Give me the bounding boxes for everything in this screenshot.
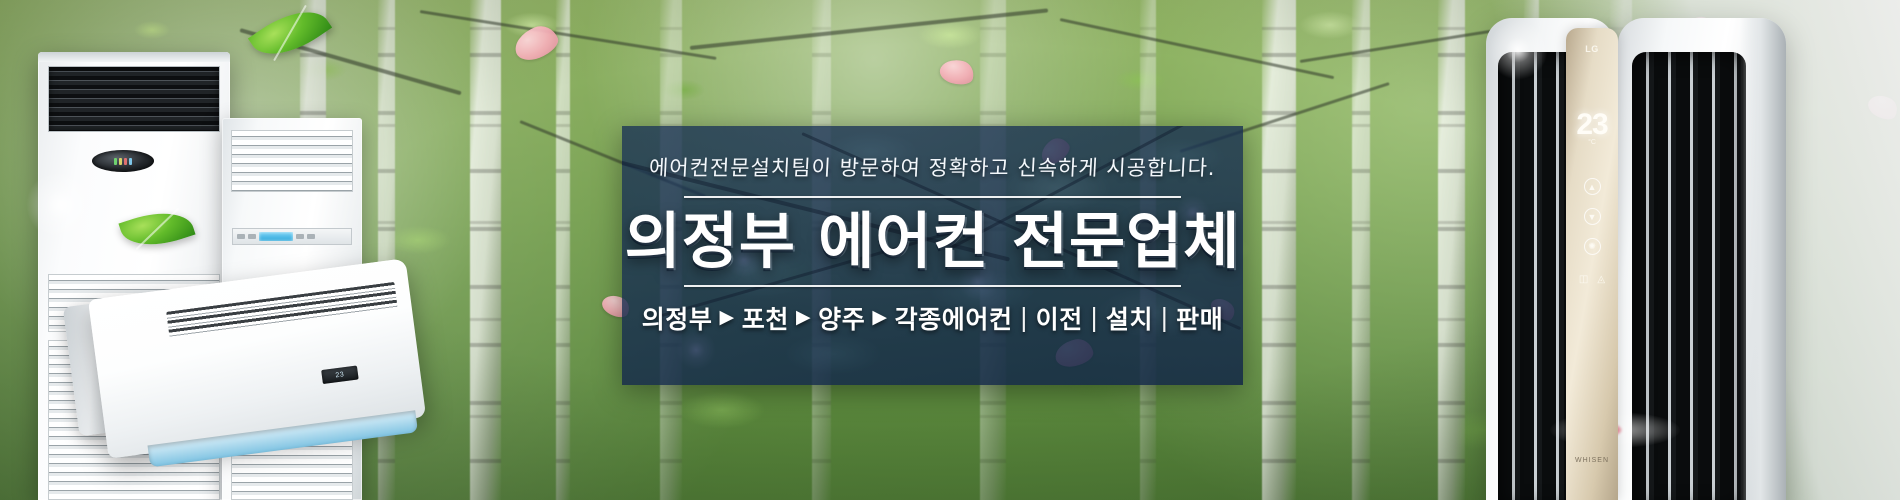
region-label-3: 양주 (818, 300, 865, 336)
whisen-brand-tag: WHISEN (1575, 457, 1609, 464)
decorative-leaf (118, 202, 195, 256)
arrow-right-icon: ▶ (720, 308, 735, 327)
mode-left-icon[interactable]: ◫ (1579, 274, 1588, 285)
tower-control-panel (232, 228, 352, 245)
temperature-display: 23 (1576, 108, 1607, 142)
decorative-leaf (248, 0, 332, 70)
tower-side-shade (1740, 18, 1786, 500)
lg-logo: LG (1585, 44, 1599, 54)
chevron-up-icon[interactable]: ▲ (1584, 178, 1601, 195)
headline-panel: 에어컨전문설치팀이 방문하여 정확하고 신속하게 시공합니다. 의정부 에어컨 … (622, 126, 1243, 385)
service-item-1: 이전 (1036, 300, 1083, 336)
left-product-group: 23 (0, 0, 420, 500)
fan-icon[interactable]: ✺ (1584, 238, 1601, 255)
divider-top (684, 196, 1181, 198)
service-region-line: 의정부 ▶ 포천 ▶ 양주 ▶ 각종에어컨 | 이전 | 설치 | 판매 (642, 300, 1224, 336)
region-label-2: 포천 (742, 300, 789, 336)
tagline-text: 에어컨전문설치팀이 방문하여 정확하고 신속하게 시공합니다. (648, 152, 1216, 182)
display-indicator-pips (114, 158, 132, 165)
arrow-right-icon: ▶ (872, 308, 887, 327)
right-product-group: LG 23 °C ▲ ▼ ✺ ◫ ◬ WHISEN (1480, 0, 1900, 500)
page-title: 의정부 에어컨 전문업체 (625, 210, 1241, 275)
panel-button[interactable] (248, 234, 256, 239)
separator: | (1020, 303, 1029, 332)
region-label-1: 의정부 (642, 300, 713, 336)
control-button-group: ▲ ▼ ✺ ◫ ◬ (1579, 178, 1605, 285)
top-intake-grille (48, 66, 220, 132)
panel-button[interactable] (307, 234, 315, 239)
service-item-2: 설치 (1106, 300, 1153, 336)
lg-control-panel[interactable]: LG 23 °C ▲ ▼ ✺ ◫ ◬ WHISEN (1566, 28, 1618, 500)
unit-top-cap (38, 52, 230, 62)
divider-bottom (684, 285, 1181, 287)
separator: | (1160, 303, 1169, 332)
panel-button[interactable] (296, 234, 304, 239)
services-label: 각종에어컨 (895, 300, 1013, 336)
lcd-screen (259, 232, 293, 241)
panel-button[interactable] (237, 234, 245, 239)
control-display (92, 150, 154, 172)
tower-top-grille (231, 130, 353, 192)
mode-right-icon[interactable]: ◬ (1597, 274, 1605, 285)
separator: | (1090, 303, 1099, 332)
wall-unit-lcd-value: 23 (335, 371, 345, 379)
service-item-3: 판매 (1176, 300, 1223, 336)
air-conditioner-service-banner: 23 LG 23 °C ▲ ▼ ✺ ◫ ◬ (0, 0, 1900, 500)
mode-button-pair: ◫ ◬ (1579, 274, 1605, 285)
arrow-right-icon: ▶ (796, 308, 811, 327)
temperature-unit: °C (1588, 139, 1596, 146)
chevron-down-icon[interactable]: ▼ (1584, 208, 1601, 225)
